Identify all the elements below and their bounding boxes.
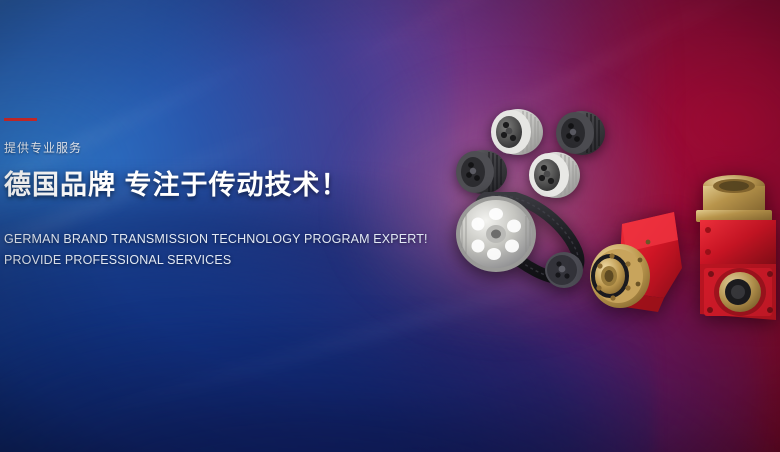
right-angle-gearbox-icon — [682, 170, 780, 330]
eyebrow-text: 提供专业服务 — [4, 142, 420, 154]
page-title: 德国品牌 专注于传动技术！ — [4, 170, 420, 201]
hero-copy: 提供专业服务 德国品牌 专注于传动技术！ GERMAN BRAND TRANSM… — [0, 118, 420, 270]
subtitle-line-2: PROVIDE PROFESSIONAL SERVICES — [4, 250, 420, 271]
accent-rule — [4, 118, 37, 121]
timing-pulley-icon — [452, 146, 510, 198]
timing-belt-drive — [452, 192, 592, 304]
hero-banner: 提供专业服务 德国品牌 专注于传动技术！ GERMAN BRAND TRANSM… — [0, 0, 780, 452]
subtitle-line-1: GERMAN BRAND TRANSMISSION TECHNOLOGY PRO… — [4, 229, 420, 250]
subtitle-block: GERMAN BRAND TRANSMISSION TECHNOLOGY PRO… — [4, 229, 420, 270]
